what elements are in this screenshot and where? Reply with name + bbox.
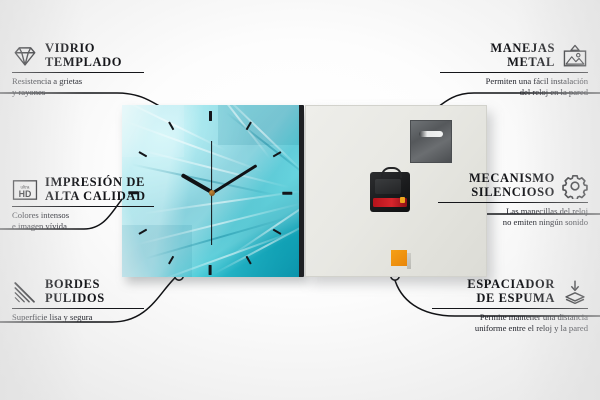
infographic-canvas: VIDRIO TEMPLADO Resistencia a grietas y … (0, 0, 600, 400)
feature-divider (12, 72, 144, 73)
foam-spacer (391, 250, 407, 266)
diamond-icon (12, 43, 38, 69)
feature-description: Colores intensos e imagen vívida (12, 210, 154, 231)
svg-text:HD: HD (19, 188, 32, 198)
gear-icon (562, 173, 588, 199)
foam-spacer-icon (562, 279, 588, 305)
feature-divider (432, 308, 588, 309)
feature-espaciador-espuma: ESPACIADOR DE ESPUMA Permite mantener un… (432, 278, 588, 333)
metal-hanger-plate (410, 120, 452, 163)
feature-description: Las manecillas del reloj no emiten ningú… (438, 206, 588, 227)
feature-title: MECANISMO SILENCIOSO (469, 172, 555, 199)
mechanism-hanging-loop (381, 167, 402, 178)
feature-bordes-pulidos: BORDES PULIDOS Superficie lisa y segura (12, 278, 144, 323)
feature-vidrio-templado: VIDRIO TEMPLADO Resistencia a grietas y … (12, 42, 144, 97)
polished-edges-icon (12, 279, 38, 305)
feature-title: MANEJAS METAL (490, 42, 555, 69)
ultra-hd-icon: ultra HD (12, 177, 38, 203)
feature-divider (440, 72, 588, 73)
hanger-keyhole-slot (419, 131, 443, 137)
feature-divider (12, 206, 154, 207)
mechanism-housing (375, 179, 401, 194)
feature-divider (12, 308, 144, 309)
feature-title: VIDRIO TEMPLADO (45, 42, 122, 69)
feature-divider (438, 202, 588, 203)
feature-description: Permiten una fácil instalación del reloj… (440, 76, 588, 97)
feature-impresion-alta-calidad: ultra HD IMPRESIÓN DE ALTA CALIDAD Color… (12, 176, 154, 231)
feature-title: ESPACIADOR DE ESPUMA (467, 278, 555, 305)
foam-spacer-side (407, 253, 411, 269)
feature-description: Permite mantener una distancia uniforme … (432, 312, 588, 333)
clock-center-pin (209, 190, 215, 196)
clock-mechanism (370, 172, 410, 212)
feature-manejas-metal: MANEJAS METAL Permiten una fácil instala… (440, 42, 588, 97)
battery-terminal (400, 197, 405, 203)
feature-title: BORDES PULIDOS (45, 278, 105, 305)
wall-hanging-frame-icon (562, 43, 588, 69)
feature-description: Resistencia a grietas y rayones (12, 76, 144, 97)
feature-mecanismo-silencioso: MECANISMO SILENCIOSO Las manecillas del … (438, 172, 588, 227)
feature-title: IMPRESIÓN DE ALTA CALIDAD (45, 176, 146, 203)
feature-description: Superficie lisa y segura (12, 312, 144, 322)
